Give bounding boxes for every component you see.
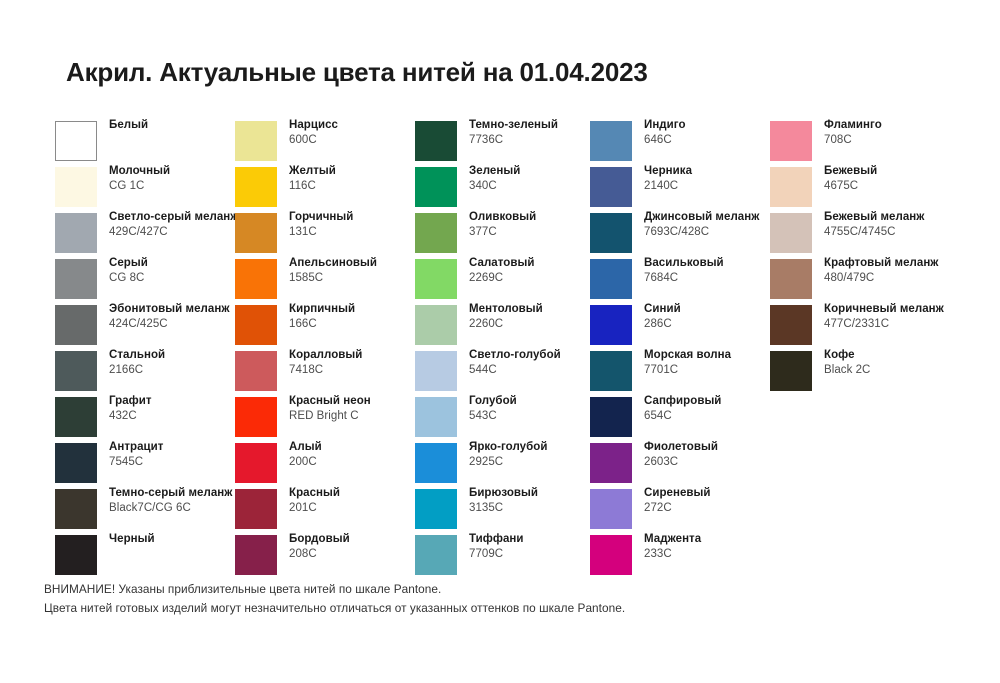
color-swatch[interactable] [770, 351, 812, 391]
color-row[interactable]: Горчичный131C [235, 210, 410, 256]
footer-line: ВНИМАНИЕ! Указаны приблизительные цвета … [44, 580, 944, 599]
color-swatch[interactable] [415, 535, 457, 575]
color-swatch[interactable] [415, 489, 457, 529]
color-swatch[interactable] [415, 305, 457, 345]
color-chart-page: Акрил. Актуальные цвета нитей на 01.04.2… [0, 0, 1000, 683]
color-swatch[interactable] [235, 121, 277, 161]
column-4: Индиго646CЧерника2140CДжинсовый меланж76… [590, 118, 768, 578]
color-swatch[interactable] [55, 259, 97, 299]
color-swatch[interactable] [590, 535, 632, 575]
color-row[interactable]: Темно-серый меланжBlack7C/CG 6C [55, 486, 230, 532]
color-swatch[interactable] [55, 535, 97, 575]
color-row[interactable]: Черника2140C [590, 164, 768, 210]
color-swatch[interactable] [590, 305, 632, 345]
color-row[interactable]: Апельсиновый1585C [235, 256, 410, 302]
color-swatch[interactable] [235, 535, 277, 575]
color-swatch[interactable] [415, 397, 457, 437]
footer-notes: ВНИМАНИЕ! Указаны приблизительные цвета … [44, 580, 944, 618]
color-swatch[interactable] [235, 489, 277, 529]
color-name: Крафтовый меланж [824, 256, 1000, 271]
color-row[interactable]: Желтый116C [235, 164, 410, 210]
color-swatch[interactable] [235, 167, 277, 207]
color-code: 708C [824, 133, 1000, 148]
color-name: Коричневый меланж [824, 302, 1000, 317]
color-swatch[interactable] [590, 167, 632, 207]
color-row[interactable]: Голубой543C [415, 394, 587, 440]
color-row[interactable]: Эбонитовый меланж424C/425C [55, 302, 230, 348]
color-swatch[interactable] [770, 213, 812, 253]
color-labels: Крафтовый меланж480/479C [824, 256, 1000, 285]
color-swatch[interactable] [770, 167, 812, 207]
color-code: 480/479C [824, 271, 1000, 286]
color-name: Бежевый меланж [824, 210, 1000, 225]
color-code: 2603C [644, 455, 819, 470]
color-row[interactable]: Морская волна7701C [590, 348, 768, 394]
color-swatch[interactable] [590, 397, 632, 437]
color-swatch[interactable] [55, 489, 97, 529]
color-swatch[interactable] [235, 397, 277, 437]
color-swatch[interactable] [55, 121, 97, 161]
color-row[interactable]: МолочныйCG 1C [55, 164, 230, 210]
color-row[interactable]: Светло-голубой544C [415, 348, 587, 394]
color-row[interactable]: КофеBlack 2C [770, 348, 975, 394]
color-row[interactable]: Бежевый меланж4755C/4745C [770, 210, 975, 256]
color-row[interactable]: Антрацит7545C [55, 440, 230, 486]
color-row[interactable]: Зеленый340C [415, 164, 587, 210]
color-row[interactable]: Ментоловый2260C [415, 302, 587, 348]
color-swatch[interactable] [590, 351, 632, 391]
color-swatch[interactable] [235, 443, 277, 483]
color-swatch[interactable] [770, 305, 812, 345]
color-row[interactable]: Индиго646C [590, 118, 768, 164]
color-swatch[interactable] [590, 489, 632, 529]
color-row[interactable]: Красный неонRED Bright C [235, 394, 410, 440]
color-row[interactable]: Фиолетовый2603C [590, 440, 768, 486]
color-swatch[interactable] [590, 213, 632, 253]
color-labels: КофеBlack 2C [824, 348, 1000, 377]
color-name: Фиолетовый [644, 440, 819, 455]
color-row[interactable]: Маджента233C [590, 532, 768, 578]
color-swatch[interactable] [55, 443, 97, 483]
color-swatch[interactable] [235, 259, 277, 299]
color-row[interactable]: Сиреневый272C [590, 486, 768, 532]
color-row[interactable]: Салатовый2269C [415, 256, 587, 302]
color-row[interactable]: Джинсовый меланж7693C/428C [590, 210, 768, 256]
color-swatch[interactable] [590, 121, 632, 161]
column-1: БелыйМолочныйCG 1CСветло-серый меланж429… [55, 118, 230, 578]
color-swatch[interactable] [415, 213, 457, 253]
color-row[interactable]: Красный201C [235, 486, 410, 532]
color-row[interactable]: Нарцисс600C [235, 118, 410, 164]
color-code: Black 2C [824, 363, 1000, 378]
color-swatch[interactable] [415, 259, 457, 299]
color-swatch[interactable] [415, 167, 457, 207]
color-row[interactable]: Бежевый4675C [770, 164, 975, 210]
color-swatch[interactable] [55, 213, 97, 253]
color-row[interactable]: Коралловый7418C [235, 348, 410, 394]
color-name: Маджента [644, 532, 819, 547]
column-3: Темно-зеленый7736CЗеленый340CОливковый37… [415, 118, 587, 578]
color-swatch[interactable] [55, 351, 97, 391]
color-labels: Коричневый меланж477C/2331C [824, 302, 1000, 331]
color-swatch[interactable] [55, 397, 97, 437]
color-swatch[interactable] [770, 259, 812, 299]
footer-line: Цвета нитей готовых изделий могут незнач… [44, 599, 944, 618]
color-code: 4755C/4745C [824, 225, 1000, 240]
color-row[interactable]: Белый [55, 118, 230, 164]
color-code: 233C [644, 547, 819, 562]
color-row[interactable]: Бирюзовый3135C [415, 486, 587, 532]
color-labels: Бежевый4675C [824, 164, 1000, 193]
color-labels: Маджента233C [644, 532, 819, 561]
color-swatch[interactable] [590, 259, 632, 299]
color-swatch[interactable] [235, 305, 277, 345]
color-name: Сапфировый [644, 394, 819, 409]
color-name: Сиреневый [644, 486, 819, 501]
color-row[interactable]: Коричневый меланж477C/2331C [770, 302, 975, 348]
color-code: 654C [644, 409, 819, 424]
page-title: Акрил. Актуальные цвета нитей на 01.04.2… [66, 57, 648, 88]
color-row[interactable]: Графит432C [55, 394, 230, 440]
color-swatch[interactable] [590, 443, 632, 483]
color-row[interactable]: Кирпичный166C [235, 302, 410, 348]
color-swatch[interactable] [415, 121, 457, 161]
color-labels: Сиреневый272C [644, 486, 819, 515]
color-labels: Бежевый меланж4755C/4745C [824, 210, 1000, 239]
color-code: 4675C [824, 179, 1000, 194]
column-5: Фламинго708CБежевый4675CБежевый меланж47… [770, 118, 975, 394]
color-row[interactable]: Черный [55, 532, 230, 578]
color-row[interactable]: Тиффани7709C [415, 532, 587, 578]
color-row[interactable]: Крафтовый меланж480/479C [770, 256, 975, 302]
color-swatch[interactable] [415, 443, 457, 483]
color-row[interactable]: Фламинго708C [770, 118, 975, 164]
color-name: Фламинго [824, 118, 1000, 133]
color-row[interactable]: Сапфировый654C [590, 394, 768, 440]
color-row[interactable]: Ярко-голубой2925C [415, 440, 587, 486]
color-name: Кофе [824, 348, 1000, 363]
color-swatch[interactable] [235, 213, 277, 253]
color-swatch[interactable] [235, 351, 277, 391]
color-code: 272C [644, 501, 819, 516]
color-labels: Фиолетовый2603C [644, 440, 819, 469]
color-row[interactable]: Васильковый7684C [590, 256, 768, 302]
color-code: 477C/2331C [824, 317, 1000, 332]
color-name: Бежевый [824, 164, 1000, 179]
color-swatch[interactable] [770, 121, 812, 161]
column-2: Нарцисс600CЖелтый116CГорчичный131CАпельс… [235, 118, 410, 578]
color-labels: Сапфировый654C [644, 394, 819, 423]
color-row[interactable]: Бордовый208C [235, 532, 410, 578]
color-swatch[interactable] [415, 351, 457, 391]
color-row[interactable]: Алый200C [235, 440, 410, 486]
color-row[interactable]: Оливковый377C [415, 210, 587, 256]
color-row[interactable]: Стальной2166C [55, 348, 230, 394]
color-row[interactable]: Светло-серый меланж429C/427C [55, 210, 230, 256]
color-row[interactable]: Синий286C [590, 302, 768, 348]
color-swatch[interactable] [55, 305, 97, 345]
color-swatch[interactable] [55, 167, 97, 207]
color-row[interactable]: Темно-зеленый7736C [415, 118, 587, 164]
color-row[interactable]: СерыйCG 8C [55, 256, 230, 302]
color-labels: Фламинго708C [824, 118, 1000, 147]
